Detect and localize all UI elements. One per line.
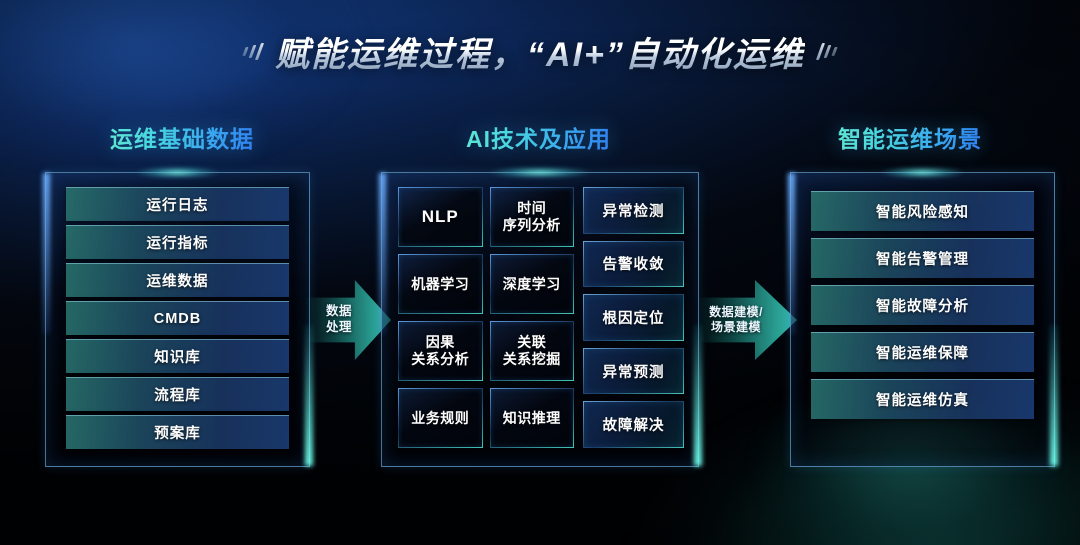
scenario-card-label: 智能故障分析 — [876, 295, 969, 316]
ai-technique-card[interactable]: 因果关系分析 — [398, 321, 483, 381]
column-header-left: 运维基础数据 — [110, 120, 254, 154]
arrow-data-processing: 数据处理 — [305, 280, 391, 360]
middle-content: NLP时间序列分析机器学习深度学习因果关系分析关联关系挖掘业务规则知识推理 异常… — [398, 187, 684, 448]
title-tick-marks-left — [244, 43, 261, 60]
tick-icon — [824, 45, 832, 58]
arrow-label: 数据处理 — [305, 304, 391, 335]
ai-capability-card[interactable]: 告警收敛 — [583, 241, 684, 288]
scenario-card-label: 智能风险感知 — [876, 201, 969, 222]
ai-capability-card[interactable]: 异常预测 — [583, 348, 684, 395]
scenario-card[interactable]: 智能风险感知 — [811, 191, 1034, 231]
ops-data-card[interactable]: 运维数据 — [66, 263, 289, 297]
panel-ops-base-data: 运行日志运行指标运维数据CMDB知识库流程库预案库 — [45, 172, 310, 467]
ai-technique-card-label: 时间序列分析 — [503, 200, 561, 233]
title-tick-marks-right — [819, 43, 836, 60]
ops-data-card-label: 运行指标 — [147, 232, 209, 253]
scenario-card[interactable]: 智能告警管理 — [811, 238, 1034, 278]
ai-technique-grid: NLP时间序列分析机器学习深度学习因果关系分析关联关系挖掘业务规则知识推理 — [398, 187, 574, 448]
ai-capability-card-label: 异常预测 — [603, 361, 665, 382]
ai-technique-card[interactable]: 机器学习 — [398, 254, 483, 314]
ops-data-card-label: CMDB — [154, 311, 202, 327]
ai-technique-card-label: 机器学习 — [411, 276, 469, 293]
ops-data-card-label: 运维数据 — [147, 270, 209, 291]
ai-technique-card[interactable]: 深度学习 — [490, 254, 575, 314]
ops-data-card[interactable]: 运行指标 — [66, 225, 289, 259]
ops-data-card-label: 预案库 — [154, 422, 201, 443]
panel-smart-ops-scenarios: 智能风险感知智能告警管理智能故障分析智能运维保障智能运维仿真 — [790, 172, 1055, 467]
ai-capability-card[interactable]: 根因定位 — [583, 294, 684, 341]
panel-left-glow — [43, 173, 50, 334]
ops-data-card[interactable]: CMDB — [66, 301, 289, 335]
ai-technique-card-label: 业务规则 — [411, 410, 469, 427]
tick-icon — [242, 47, 248, 56]
column-header-right: 智能运维场景 — [838, 120, 982, 154]
ops-data-card[interactable]: 运行日志 — [66, 187, 289, 221]
ai-technique-card[interactable]: 知识推理 — [490, 388, 575, 448]
ops-data-card[interactable]: 知识库 — [66, 339, 289, 373]
ai-technique-card-label: NLP — [422, 207, 459, 227]
arrow-label: 数据建模/场景建模 — [697, 305, 797, 335]
ai-technique-card-label: 关联关系挖掘 — [503, 334, 561, 367]
panel-ai-tech: NLP时间序列分析机器学习深度学习因果关系分析关联关系挖掘业务规则知识推理 异常… — [381, 172, 699, 467]
ai-capability-list: 异常检测告警收敛根因定位异常预测故障解决 — [583, 187, 684, 448]
ai-capability-card-label: 根因定位 — [603, 307, 665, 328]
ai-technique-card[interactable]: 业务规则 — [398, 388, 483, 448]
arrow-data-modeling: 数据建模/场景建模 — [697, 280, 797, 360]
title-text: 赋能运维过程，“AI+”自动化运维 — [275, 27, 805, 76]
tick-icon — [831, 47, 837, 56]
left-card-list: 运行日志运行指标运维数据CMDB知识库流程库预案库 — [66, 187, 289, 428]
scenario-card[interactable]: 智能故障分析 — [811, 285, 1034, 325]
ai-technique-card-label: 知识推理 — [503, 410, 561, 427]
ops-data-card-label: 流程库 — [154, 384, 201, 405]
ai-capability-card-label: 故障解决 — [603, 414, 665, 435]
ai-capability-card-label: 异常检测 — [603, 200, 665, 221]
ops-data-card-label: 运行日志 — [147, 194, 209, 215]
right-card-list: 智能风险感知智能告警管理智能故障分析智能运维保障智能运维仿真 — [811, 191, 1034, 428]
scenario-card-label: 智能运维仿真 — [876, 389, 969, 410]
ai-capability-card[interactable]: 故障解决 — [583, 401, 684, 448]
ai-technique-card[interactable]: 时间序列分析 — [490, 187, 575, 247]
slide-title: 赋能运维过程，“AI+”自动化运维 — [0, 22, 1080, 80]
ai-technique-card[interactable]: NLP — [398, 187, 483, 247]
ops-data-card-label: 知识库 — [154, 346, 201, 367]
ai-capability-card-label: 告警收敛 — [603, 253, 665, 274]
column-header-middle: AI技术及应用 — [466, 120, 611, 154]
ai-technique-card[interactable]: 关联关系挖掘 — [490, 321, 575, 381]
scenario-card-label: 智能运维保障 — [876, 342, 969, 363]
slide-canvas: 赋能运维过程，“AI+”自动化运维 运维基础数据 AI技术及应用 智能运维场景 … — [0, 0, 1080, 545]
ai-technique-card-label: 因果关系分析 — [411, 334, 469, 367]
scenario-card[interactable]: 智能运维保障 — [811, 332, 1034, 372]
scenario-card-label: 智能告警管理 — [876, 248, 969, 269]
ops-data-card[interactable]: 预案库 — [66, 415, 289, 449]
ai-technique-card-label: 深度学习 — [503, 276, 561, 293]
ai-capability-card[interactable]: 异常检测 — [583, 187, 684, 234]
scenario-card[interactable]: 智能运维仿真 — [811, 379, 1034, 419]
ops-data-card[interactable]: 流程库 — [66, 377, 289, 411]
